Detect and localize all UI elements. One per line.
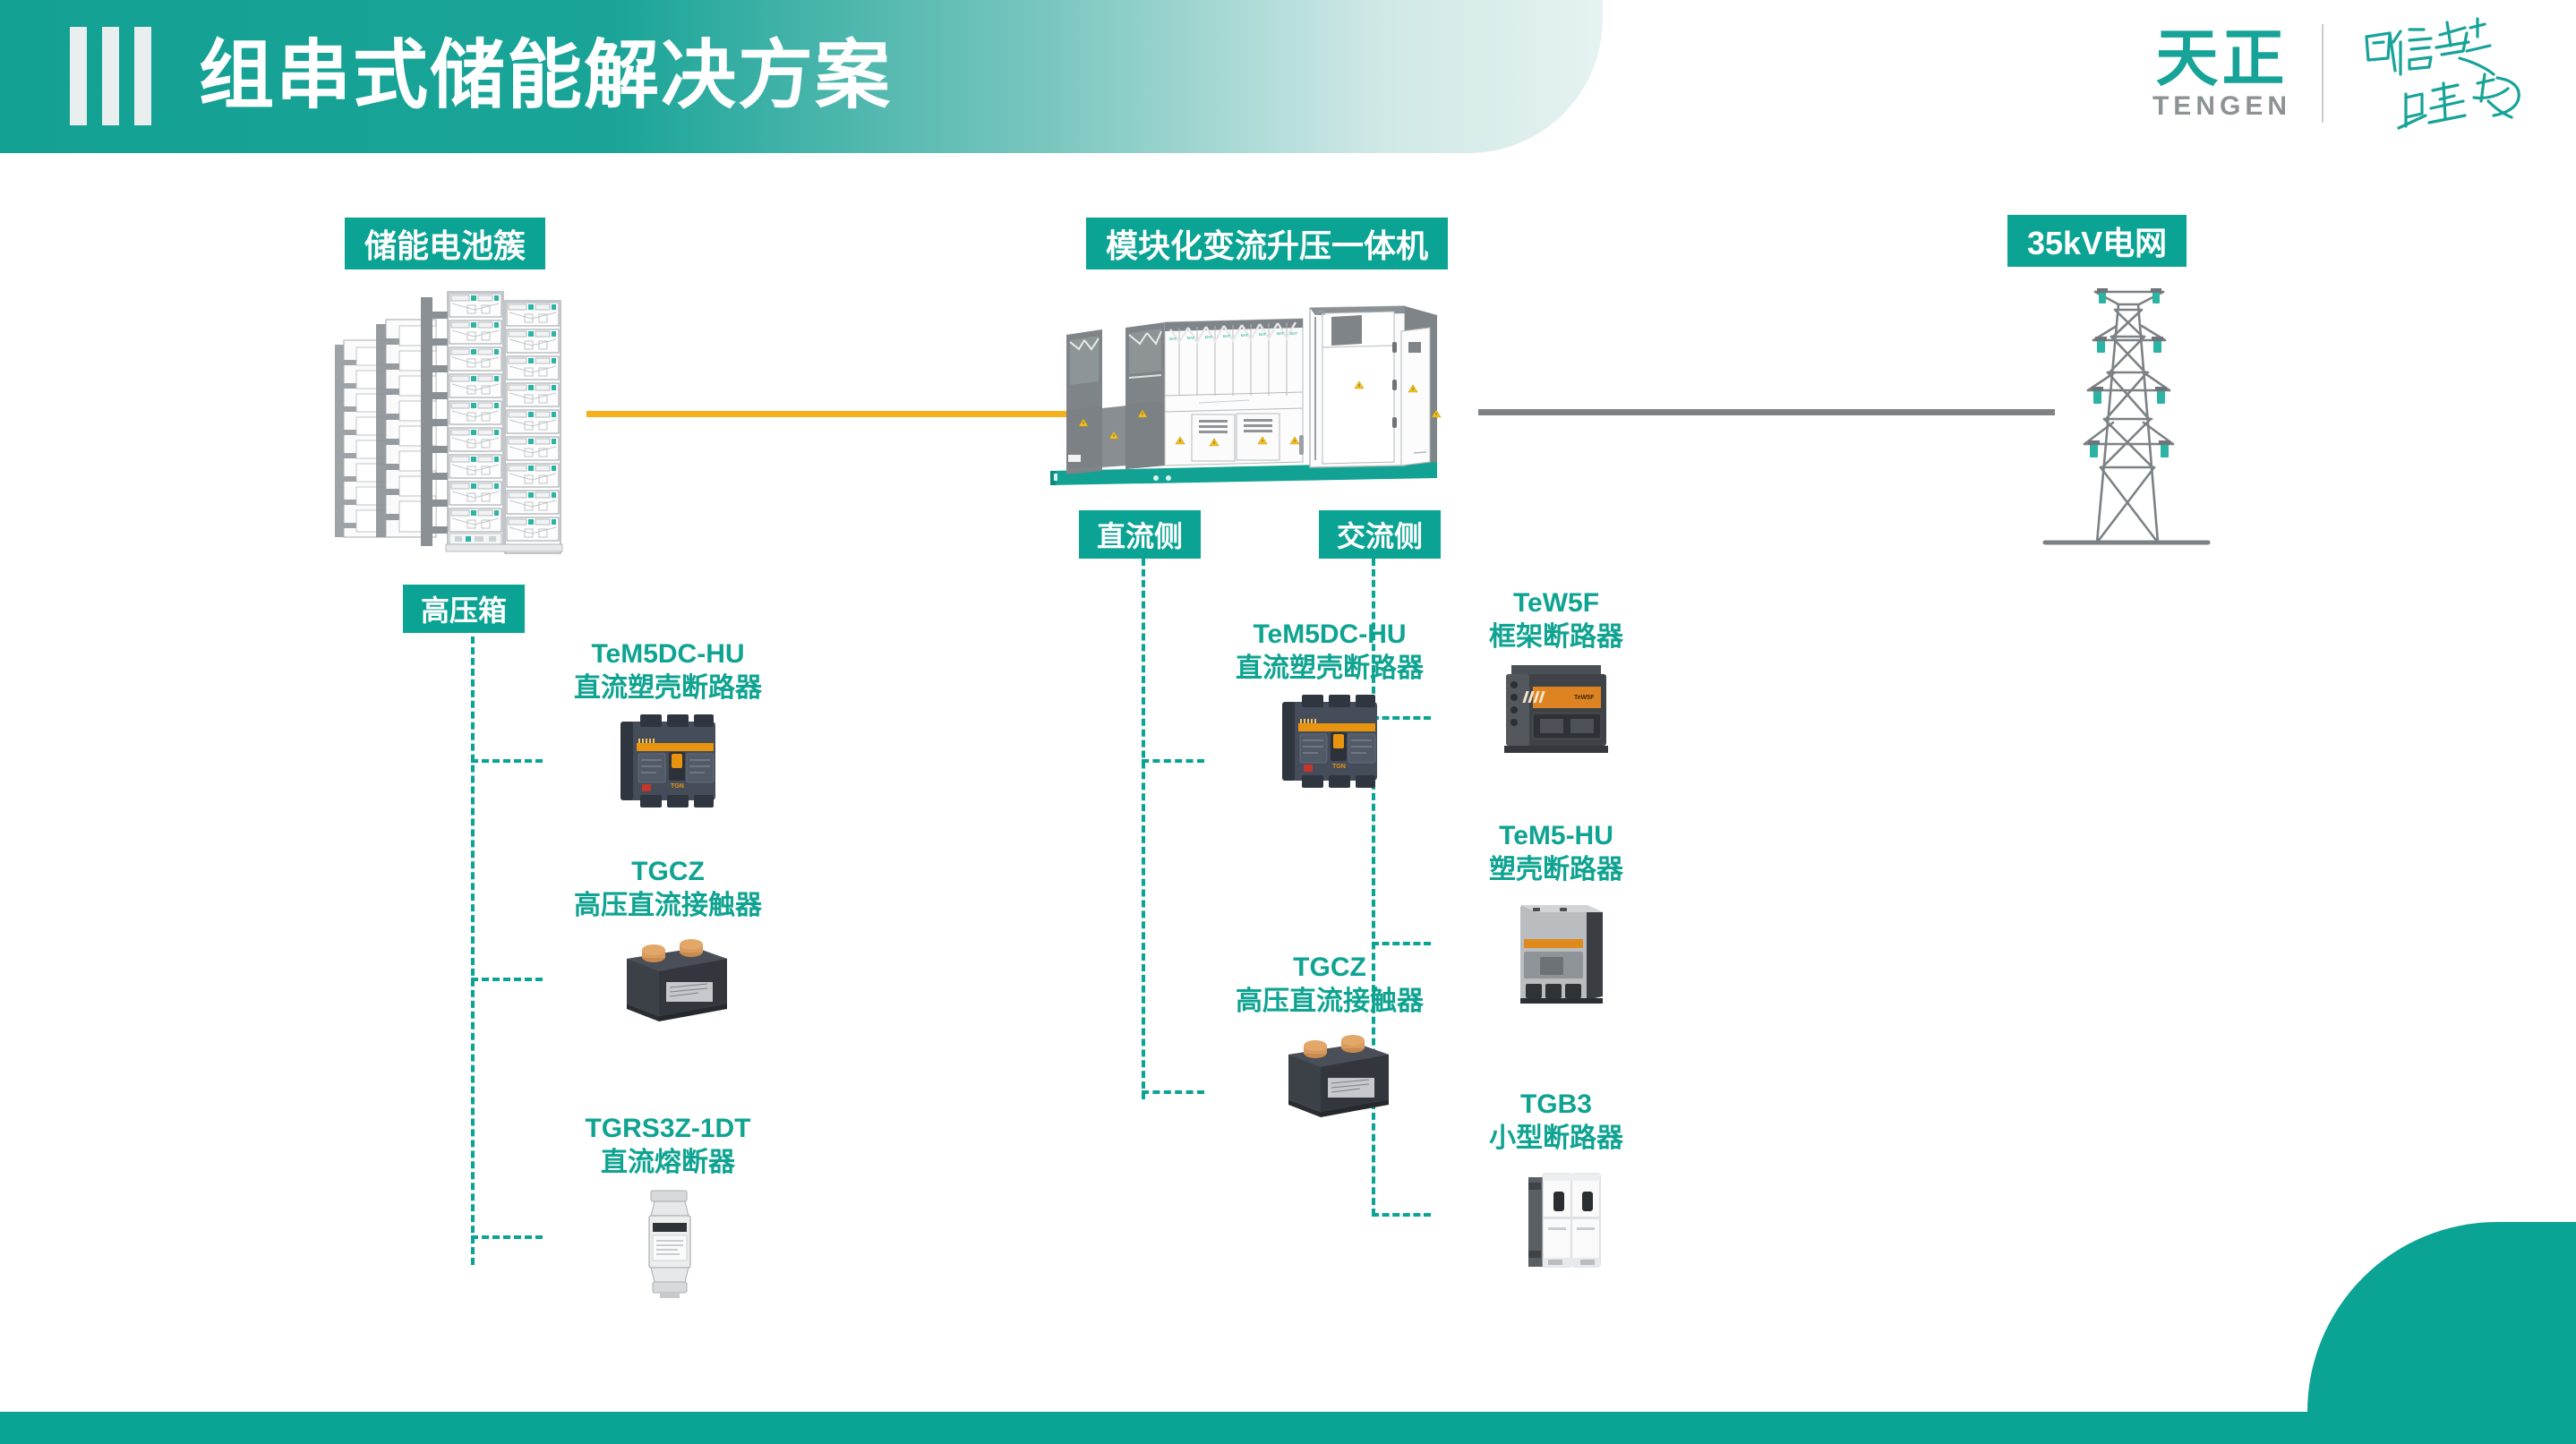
- product-name: TeW5F: [1431, 586, 1682, 620]
- product-image: [1431, 1161, 1682, 1277]
- svg-text:BAT: BAT: [1205, 335, 1213, 339]
- section-label-hv-box: 高压箱: [403, 585, 525, 633]
- product-card-middle-1[interactable]: TGCZ 高压直流接触器: [1204, 951, 1455, 1123]
- dashed-connector-dc-main: [1142, 559, 1145, 1099]
- svg-text:BAT: BAT: [1259, 332, 1267, 337]
- bottom-accent-bar: [0, 1412, 2576, 1444]
- logo-chinese-name: 天正: [2155, 25, 2288, 91]
- dashed-branch-left-2: [471, 978, 543, 981]
- product-card-left-0[interactable]: TeM5DC-HU 直流塑壳断路器: [543, 637, 793, 809]
- mccb-gray-icon: [1493, 893, 1619, 1009]
- containerized-pcs-skid-icon: BATBATBAT BATBATBAT BATBAT: [1043, 295, 1446, 501]
- product-image: [1431, 893, 1682, 1009]
- dashed-branch-dc-2: [1142, 1090, 1204, 1094]
- dc-bus-line: [586, 411, 1081, 417]
- page-title: 组串式储能解决方案: [199, 25, 892, 125]
- product-desc: 直流塑壳断路器: [543, 671, 793, 705]
- product-name: TeM5-HU: [1431, 819, 1682, 853]
- dashed-connector-left-main: [471, 637, 475, 1265]
- product-card-left-1[interactable]: TGCZ 高压直流接触器: [543, 855, 793, 1027]
- product-image: TeW5F: [1431, 660, 1682, 758]
- mccb-icon: TGN: [601, 711, 735, 809]
- dashed-branch-left-1: [471, 759, 543, 763]
- dashed-branch-dc-1: [1142, 759, 1204, 763]
- dashed-branch-left-3: [471, 1235, 543, 1239]
- product-desc: 小型断路器: [1431, 1122, 1682, 1156]
- svg-text:BAT: BAT: [1187, 336, 1195, 340]
- logo-english-name: TENGEN: [2152, 91, 2291, 122]
- section-label-pcs: 模块化变流升压一体机: [1086, 218, 1448, 269]
- fuse-icon: [610, 1185, 726, 1302]
- section-label-ac-side: 交流侧: [1319, 510, 1441, 559]
- product-name: TGCZ: [1204, 951, 1455, 985]
- product-name: TGCZ: [543, 855, 793, 889]
- product-image: TGN: [1204, 691, 1455, 790]
- three-bars-icon: [70, 27, 151, 125]
- product-desc: 直流熔断器: [543, 1146, 793, 1180]
- product-desc: 塑壳断路器: [1431, 853, 1682, 887]
- product-card-right-2[interactable]: TGB3 小型断路器: [1431, 1088, 1682, 1277]
- ac-bus-line: [1478, 409, 2055, 415]
- product-image: TGN: [543, 711, 793, 809]
- battery-rack-cluster-icon: [322, 278, 591, 573]
- acb-icon: TeW5F: [1485, 660, 1628, 758]
- product-card-right-0[interactable]: TeW5F 框架断路器 TeW5F: [1431, 586, 1682, 758]
- product-card-middle-0[interactable]: TeM5DC-HU 直流塑壳断路器: [1204, 618, 1455, 790]
- transmission-tower-icon: [2033, 269, 2225, 555]
- product-image: [543, 928, 793, 1027]
- product-desc: 高压直流接触器: [543, 889, 793, 923]
- logo-divider: [2322, 24, 2324, 123]
- svg-text:BAT: BAT: [1277, 331, 1285, 336]
- svg-text:BAT: BAT: [1169, 337, 1177, 341]
- product-name: TeM5DC-HU: [543, 637, 793, 671]
- product-card-left-2[interactable]: TGRS3Z-1DT 直流熔断器: [543, 1112, 793, 1302]
- section-label-dc-side: 直流侧: [1079, 510, 1201, 559]
- section-label-grid: 35kV电网: [2007, 215, 2187, 267]
- brand-slogan-calligraphy-icon: [2354, 15, 2542, 132]
- mccb-icon: TGN: [1262, 691, 1397, 790]
- svg-text:TeW5F: TeW5F: [1574, 695, 1595, 701]
- logo-wordmark: 天正 TENGEN: [2152, 25, 2291, 122]
- dashed-branch-ac-2: [1372, 942, 1431, 945]
- product-card-right-1[interactable]: TeM5-HU 塑壳断路器: [1431, 819, 1682, 1009]
- section-label-battery: 储能电池簇: [345, 218, 545, 269]
- product-desc: 框架断路器: [1431, 620, 1682, 654]
- header-banner: 组串式储能解决方案: [0, 0, 1603, 153]
- brand-logo: 天正 TENGEN: [2152, 11, 2542, 136]
- product-name: TeM5DC-HU: [1204, 618, 1455, 652]
- mcb-icon: [1498, 1161, 1614, 1277]
- bottom-corner-decoration: [2307, 1222, 2576, 1412]
- product-desc: 直流塑壳断路器: [1204, 652, 1455, 686]
- svg-text:BAT: BAT: [1241, 333, 1249, 338]
- contactor-icon: [596, 928, 740, 1027]
- svg-text:TGN: TGN: [671, 783, 684, 790]
- product-image: [1204, 1024, 1455, 1123]
- product-image: [543, 1185, 793, 1302]
- product-name: TGRS3Z-1DT: [543, 1112, 793, 1146]
- contactor-icon: [1258, 1024, 1401, 1123]
- product-name: TGB3: [1431, 1088, 1682, 1122]
- dashed-branch-ac-3: [1372, 1213, 1431, 1217]
- product-desc: 高压直流接触器: [1204, 985, 1455, 1019]
- slide-canvas: 组串式储能解决方案 天正 TENGEN: [0, 0, 2576, 1444]
- svg-text:BAT: BAT: [1223, 334, 1231, 338]
- svg-text:BAT: BAT: [1290, 331, 1298, 336]
- svg-text:TGN: TGN: [1332, 764, 1346, 770]
